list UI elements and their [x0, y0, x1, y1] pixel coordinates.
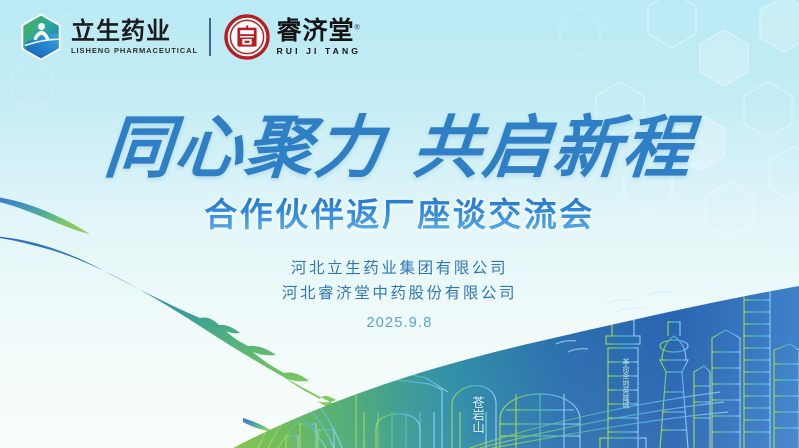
- company-name-2: 河北睿济堂中药股份有限公司: [0, 281, 799, 306]
- hexagon-leaf-figure-icon: [18, 12, 64, 62]
- logo-divider: [209, 18, 211, 56]
- traditional-gate: [350, 364, 448, 448]
- lisheng-text-block: 立生药业 LISHENG PHARMACEUTICAL: [71, 19, 196, 55]
- lisheng-logo: 立生药业 LISHENG PHARMACEUTICAL: [18, 12, 196, 62]
- header-logos: 立生药业 LISHENG PHARMACEUTICAL 睿济堂®: [18, 12, 361, 62]
- registered-mark: ®: [355, 25, 361, 32]
- ruijitang-logo: 睿济堂® RUI JI TANG: [224, 14, 362, 60]
- lisheng-name-en: LISHENG PHARMACEUTICAL: [71, 46, 198, 55]
- mountain-label: 苍岩山: [464, 396, 484, 434]
- ruijitang-text-block: 睿济堂® RUI JI TANG: [277, 18, 362, 55]
- ruijitang-name-cn-text: 睿济堂: [277, 17, 355, 45]
- ruijitang-name-cn: 睿济堂®: [277, 18, 362, 44]
- title-part-2: 共启新程: [409, 108, 696, 188]
- poster-canvas: 立生药业 LISHENG PHARMACEUTICAL 睿济堂®: [0, 0, 799, 448]
- low-city-blocks: [286, 424, 334, 448]
- page-subtitle: 合作伙伴返厂座谈交流会: [0, 188, 799, 236]
- bottom-light-overlay: [0, 328, 799, 448]
- lisheng-name-cn: 立生药业: [71, 19, 196, 44]
- company-name-1: 河北立生药业集团有限公司: [0, 256, 799, 281]
- monument-label: 革命圣地英雄城: [615, 358, 631, 408]
- ruijitang-name-en: RUI JI TANG: [277, 46, 362, 56]
- company-names: 河北立生药业集团有限公司 河北睿济堂中药股份有限公司: [0, 256, 799, 306]
- red-round-seal-icon: [224, 14, 270, 60]
- wave-band: [233, 286, 799, 448]
- mountain-range: [226, 392, 342, 448]
- title-part-1: 同心聚力: [101, 108, 388, 188]
- stadium-dome: [500, 394, 580, 448]
- event-date: 2025.9.8: [0, 315, 799, 331]
- terrace-lines: [470, 392, 728, 448]
- page-title: 同心聚力共启新程: [0, 92, 799, 191]
- brush-fragments: [243, 418, 306, 447]
